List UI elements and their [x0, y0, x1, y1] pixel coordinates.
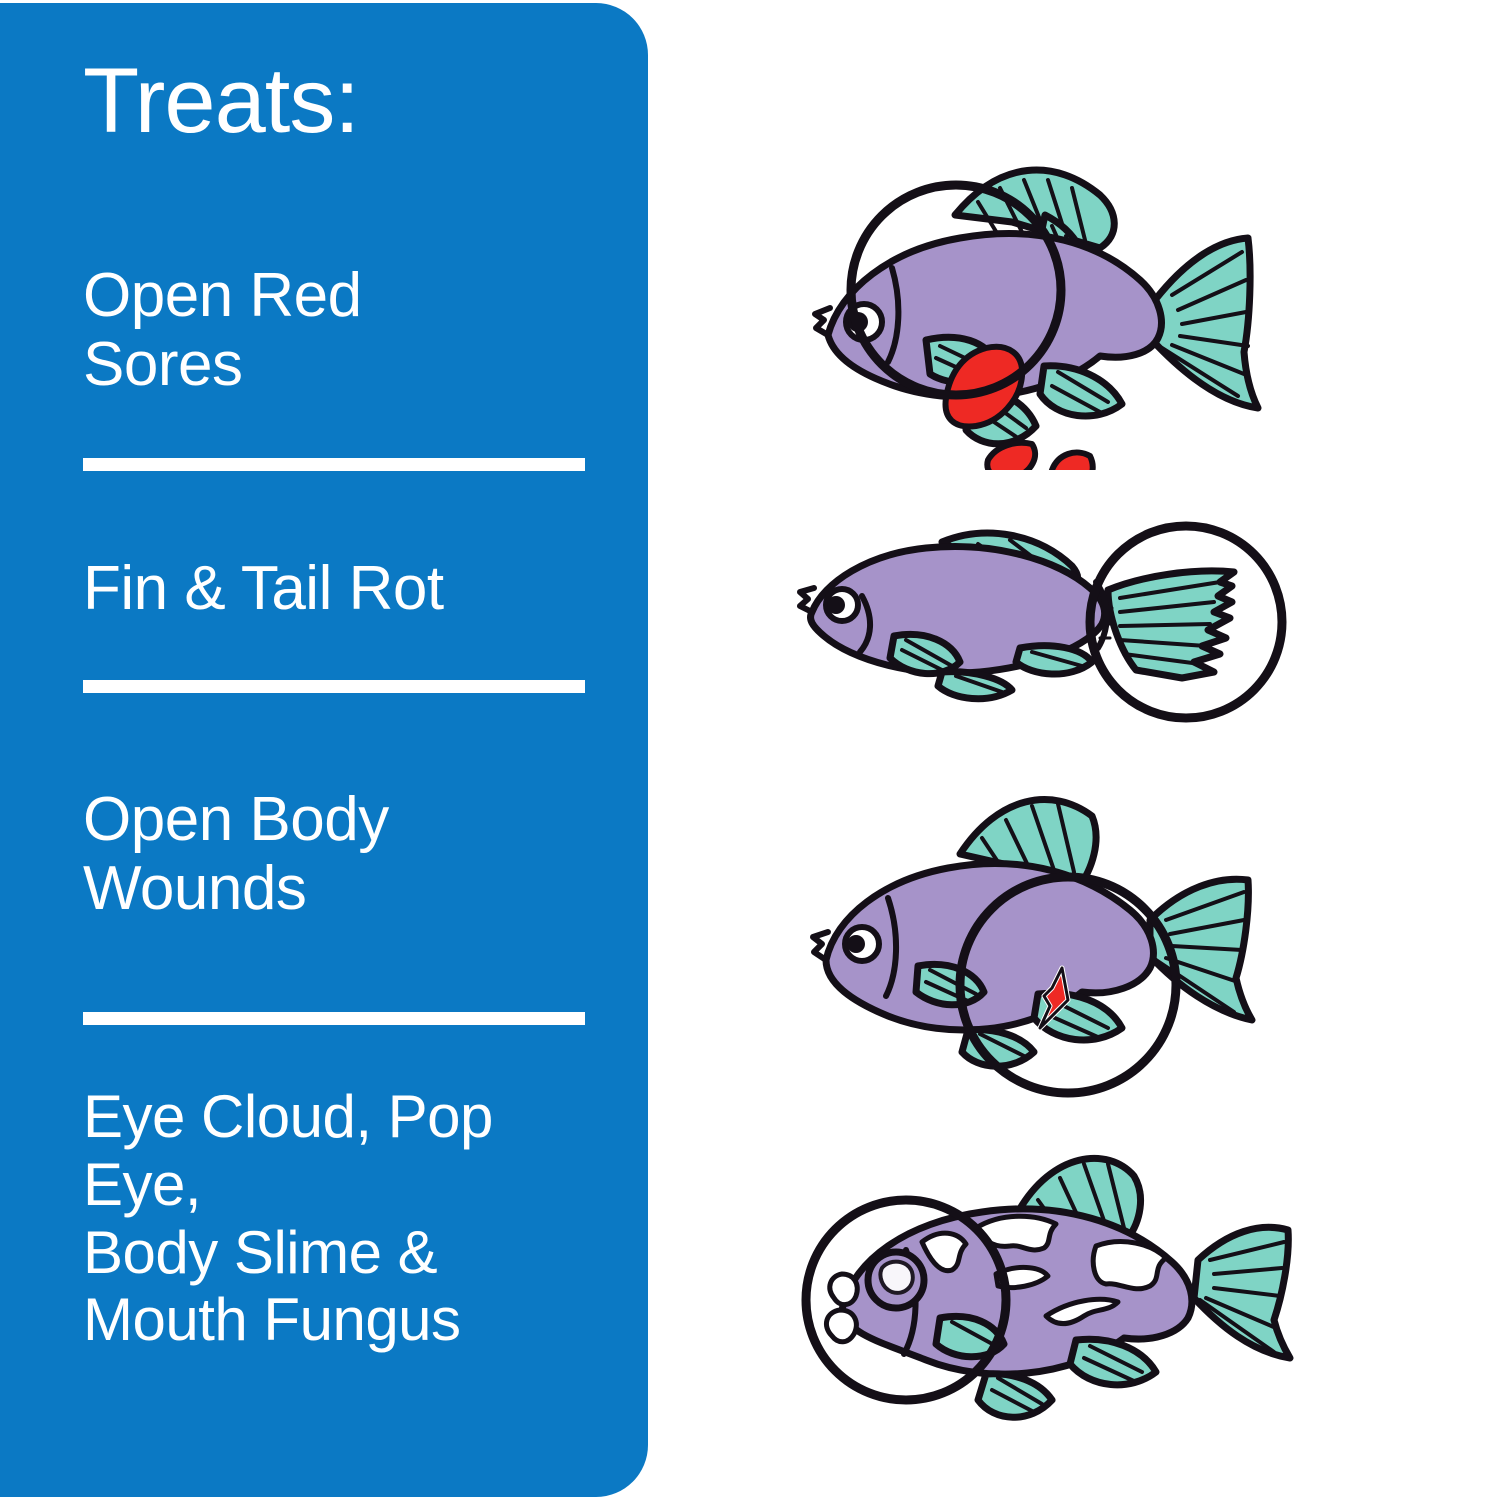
treatment-line: Eye Cloud, Pop	[83, 1083, 588, 1151]
treatment-item-open-red-sores: Open Red Sores	[83, 261, 588, 400]
mouth-fungus-tuft	[830, 1274, 857, 1305]
treatment-line: Open Body	[83, 785, 588, 854]
fish-illustration-open-body-wounds	[800, 780, 1300, 1100]
treatment-line: Wounds	[83, 854, 588, 923]
illustration-column	[660, 0, 1500, 1500]
treatment-item-eye-cloud-pop-eye-body-slime-mouth-fungus: Eye Cloud, Pop Eye, Body Slime & Mouth F…	[83, 1083, 588, 1354]
eye-cloud	[880, 1262, 912, 1293]
treatment-line: Open Red	[83, 261, 588, 330]
pelvic-fin	[978, 1374, 1052, 1418]
anal-fin	[1040, 366, 1122, 416]
page-title: Treats:	[83, 55, 359, 147]
treatment-item-fin-tail-rot: Fin & Tail Rot	[83, 554, 588, 623]
caudal-fin	[1152, 238, 1258, 408]
pupil	[827, 596, 845, 614]
fish-illustration-fin-tail-rot	[790, 520, 1310, 740]
treatment-line: Mouth Fungus	[83, 1286, 588, 1354]
mouth-fungus-tuft	[826, 1310, 856, 1342]
divider	[83, 680, 585, 693]
treatment-line: Fin & Tail Rot	[83, 554, 588, 623]
pupil	[847, 935, 865, 953]
treats-panel: Treats: Open Red Sores Fin & Tail Rot Op…	[0, 3, 648, 1497]
treatment-line: Body Slime &	[83, 1219, 588, 1287]
divider	[83, 458, 585, 471]
pelvic-fin	[938, 672, 1012, 699]
fish-illustration-eye-cloud-body-slime	[790, 1150, 1330, 1450]
fish-illustration-open-red-sores	[800, 140, 1300, 470]
treats-panel-content: Treats: Open Red Sores Fin & Tail Rot Op…	[83, 3, 588, 1497]
red-sore-small	[1051, 452, 1093, 470]
divider	[83, 1012, 585, 1025]
body-slime-patch	[1093, 1242, 1166, 1289]
treatment-line: Eye,	[83, 1151, 588, 1219]
anal-fin	[1070, 1339, 1156, 1385]
treatment-item-open-body-wounds: Open Body Wounds	[83, 785, 588, 924]
treatment-line: Sores	[83, 330, 588, 399]
